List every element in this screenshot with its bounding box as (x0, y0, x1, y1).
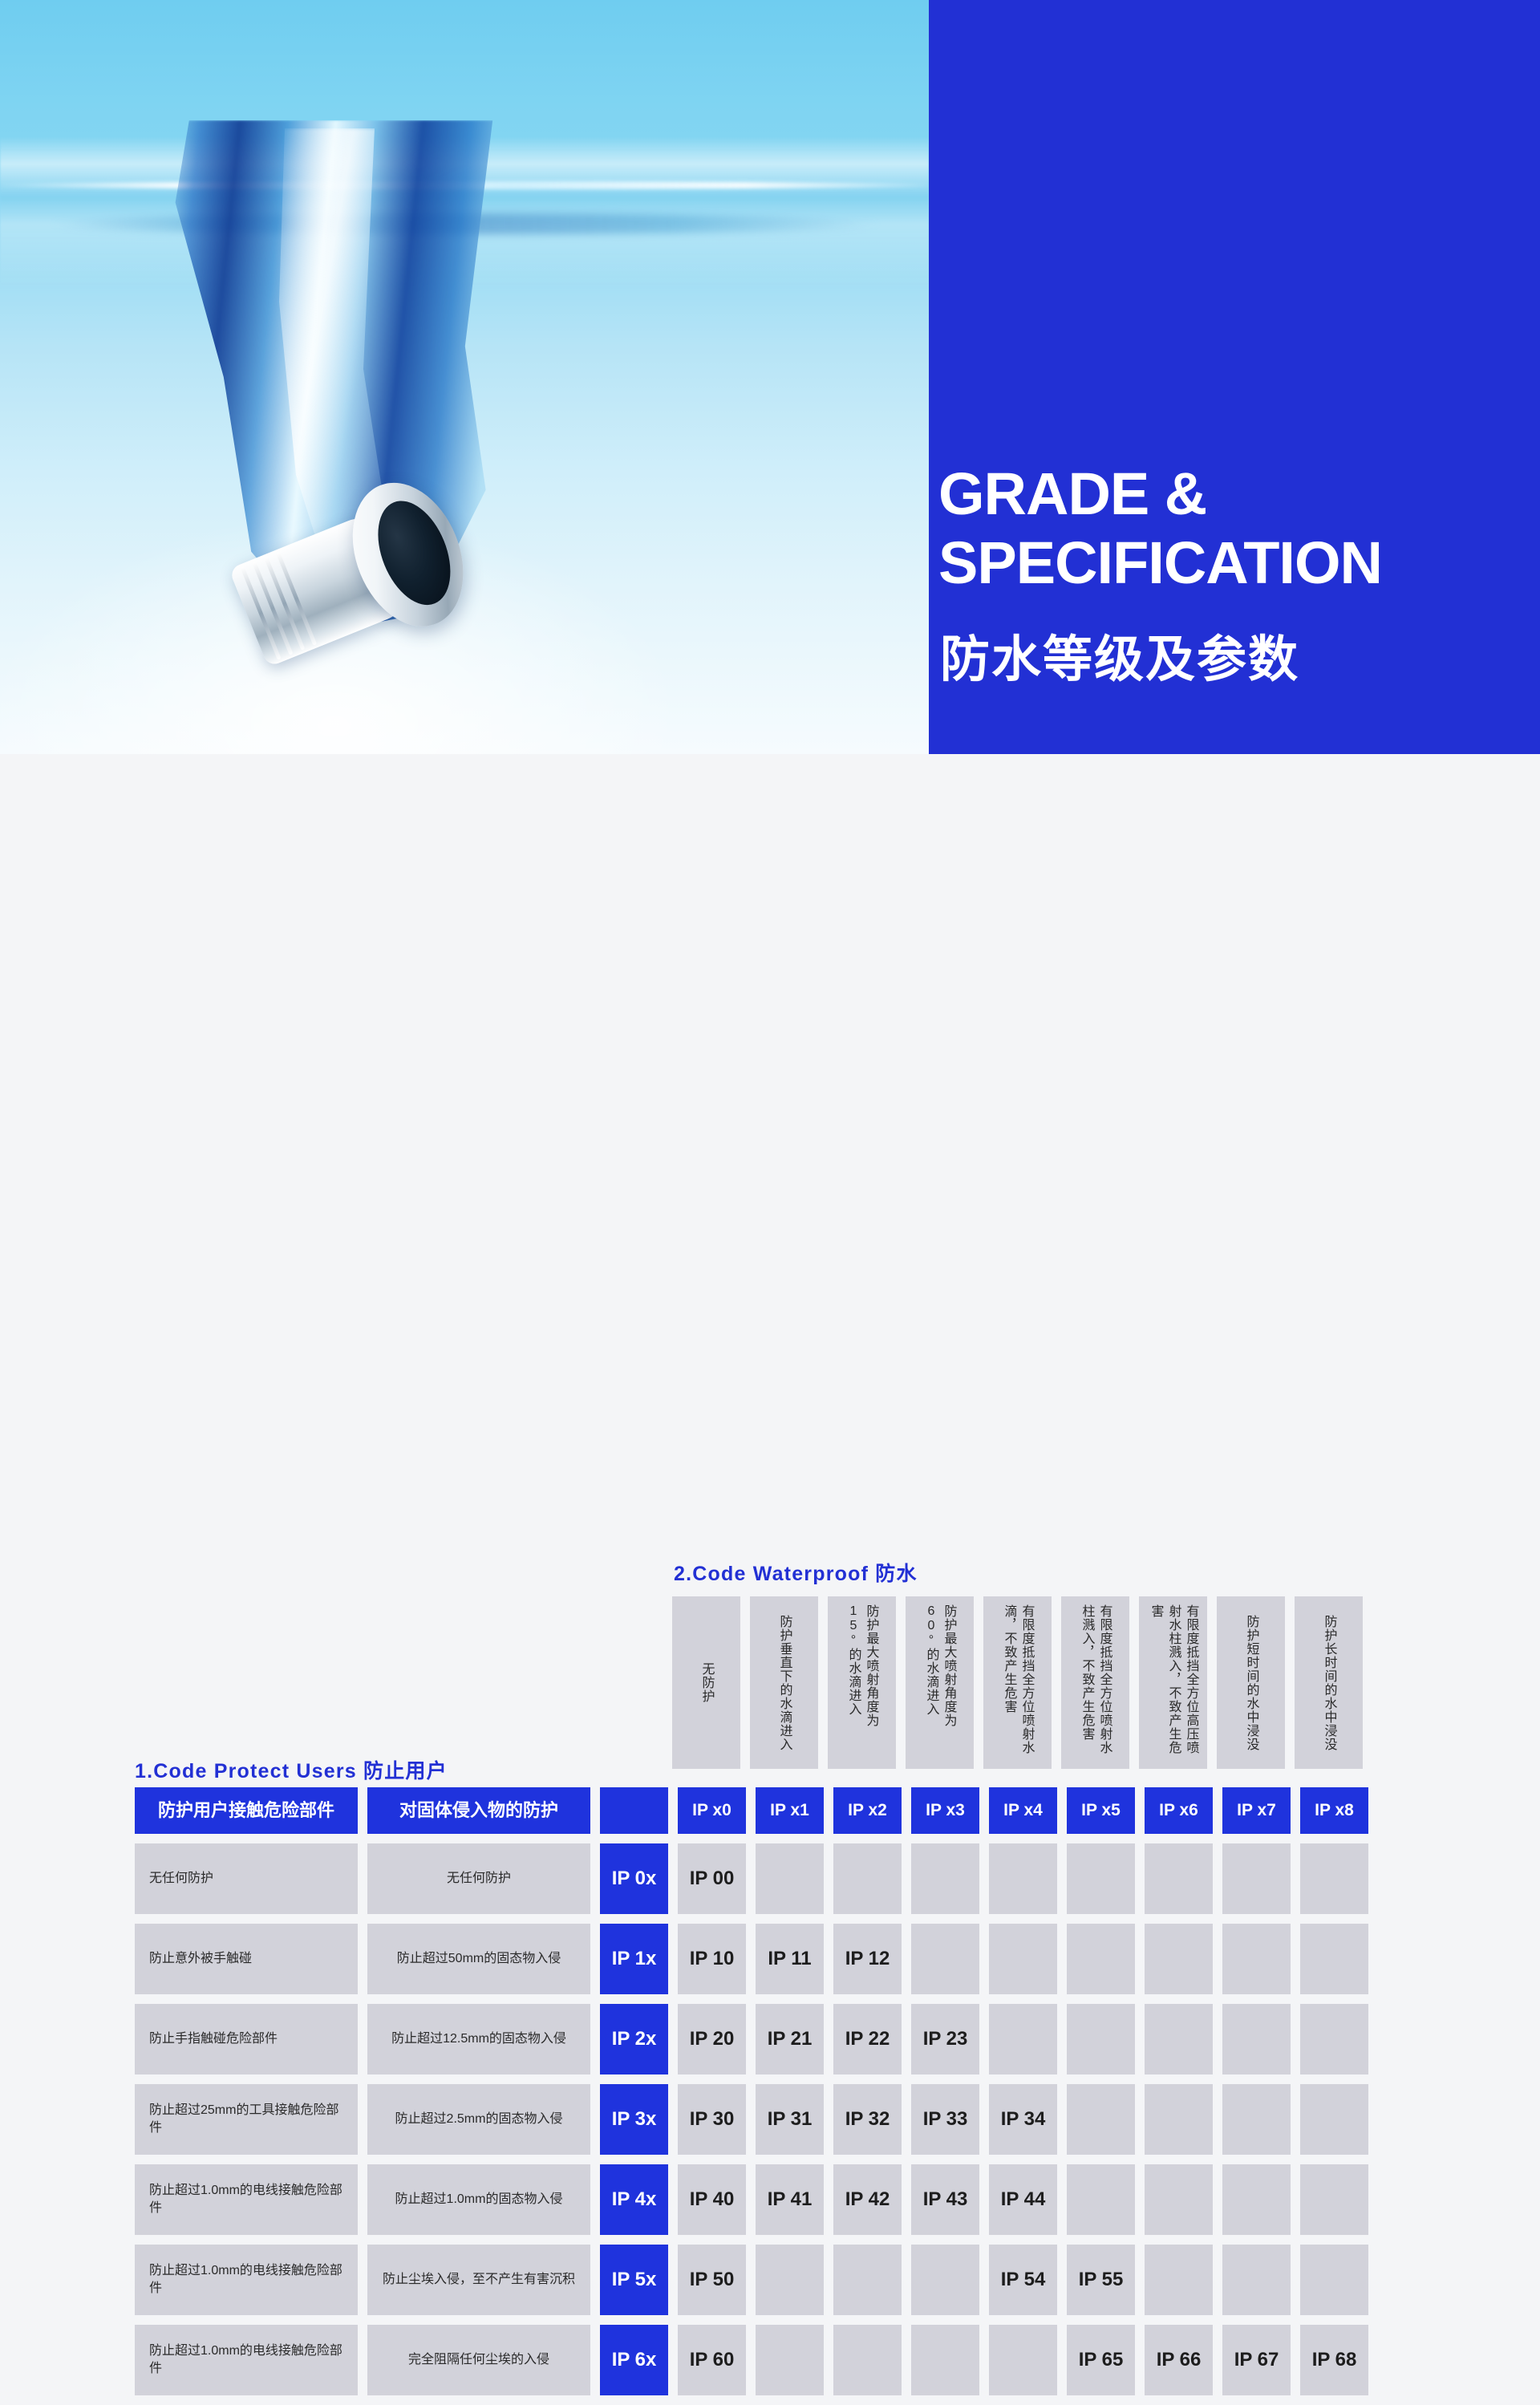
ip-empty-cell (1145, 2004, 1213, 2074)
ip-empty-cell (989, 2004, 1057, 2074)
ip-empty-cell (1067, 1924, 1135, 1994)
ip-empty-cell (1222, 2004, 1291, 2074)
ip-empty-cell (1300, 1924, 1368, 1994)
table-header-ip-ipx6: IP x6 (1145, 1787, 1213, 1834)
waterproof-description-8: 防护长时间的水中浸没 (1295, 1596, 1363, 1769)
ip-value-cell: IP 11 (756, 1924, 824, 1994)
ip-empty-cell (989, 1843, 1057, 1914)
ip-value-cell: IP 43 (911, 2164, 979, 2235)
waterproof-description-2: 防护最大喷射角度为15°的水滴进入 (828, 1596, 896, 1769)
ip-rating-table: 防护用户接触危险部件对固体侵入物的防护IP x0IP x1IP x2IP x3I… (135, 1787, 1368, 2405)
ip-empty-cell (756, 1843, 824, 1914)
row-users-description: 防止超过1.0mm的电线接触危险部件 (135, 2325, 358, 2395)
ip-value-cell: IP 42 (833, 2164, 902, 2235)
ip-value-cell: IP 68 (1300, 2325, 1368, 2395)
ip-empty-cell (756, 2245, 824, 2315)
ip-empty-cell (1067, 1843, 1135, 1914)
hero-banner: GRADE & SPECIFICATION 防水等级及参数 (0, 0, 1540, 754)
row-users-description: 防止手指触碰危险部件 (135, 2004, 358, 2074)
table-header-users: 防护用户接触危险部件 (135, 1787, 358, 1834)
row-ip-code: IP 6x (600, 2325, 668, 2395)
table-header-ip-ipx1: IP x1 (756, 1787, 824, 1834)
row-users-description: 防止超过1.0mm的电线接触危险部件 (135, 2164, 358, 2235)
row-users-description: 防止超过25mm的工具接触危险部件 (135, 2084, 358, 2155)
ip-value-cell: IP 32 (833, 2084, 902, 2155)
waterproof-description-0: 无防护 (672, 1596, 740, 1769)
ip-empty-cell (911, 1924, 979, 1994)
table-header-ip-ipx4: IP x4 (989, 1787, 1057, 1834)
ip-empty-cell (1300, 2245, 1368, 2315)
ip-empty-cell (911, 2245, 979, 2315)
row-users-description: 无任何防护 (135, 1843, 358, 1914)
ip-empty-cell (1145, 1843, 1213, 1914)
ip-value-cell: IP 10 (678, 1924, 746, 1994)
waterproof-description-text: 防护垂直下的水滴进入 (776, 1615, 793, 1751)
section-label-waterproof: 2.Code Waterproof 防水 (674, 1558, 918, 1587)
row-ip-code: IP 5x (600, 2245, 668, 2315)
ip-value-cell: IP 12 (833, 1924, 902, 1994)
ip-empty-cell (1145, 1924, 1213, 1994)
page-title-line2: SPECIFICATION (938, 529, 1532, 598)
waterproof-description-6: 有限度抵挡全方位高压喷射水柱溅入，不致产生危害 (1139, 1596, 1207, 1769)
table-header-ip-ipx7: IP x7 (1222, 1787, 1291, 1834)
ip-empty-cell (911, 2325, 979, 2395)
water-splash-photo (0, 0, 929, 754)
content-sheet: 2.Code Waterproof 防水 1.Code Protect User… (0, 754, 1540, 1749)
ip-empty-cell (1222, 1843, 1291, 1914)
ip-empty-cell (1145, 2245, 1213, 2315)
ip-value-cell: IP 41 (756, 2164, 824, 2235)
table-header-row: 防护用户接触危险部件对固体侵入物的防护IP x0IP x1IP x2IP x3I… (135, 1787, 1368, 1834)
ip-empty-cell (1300, 2164, 1368, 2235)
row-ip-code: IP 0x (600, 1843, 668, 1914)
ip-value-cell: IP 34 (989, 2084, 1057, 2155)
waterproof-description-text: 有限度抵挡全方位喷射水滴，不致产生危害 (1000, 1604, 1035, 1761)
table-header-code-spacer (600, 1787, 668, 1834)
ip-empty-cell (1067, 2084, 1135, 2155)
row-solids-description: 完全阻隔任何尘埃的入侵 (367, 2325, 590, 2395)
row-ip-code: IP 4x (600, 2164, 668, 2235)
waterproof-description-text: 有限度抵挡全方位喷射水柱溅入，不致产生危害 (1078, 1604, 1113, 1761)
waterproof-description-text: 防护短时间的水中浸没 (1242, 1615, 1260, 1751)
ip-value-cell: IP 67 (1222, 2325, 1291, 2395)
ip-empty-cell (989, 1924, 1057, 1994)
table-header-ip-ipx3: IP x3 (911, 1787, 979, 1834)
row-ip-code: IP 3x (600, 2084, 668, 2155)
ip-empty-cell (756, 2325, 824, 2395)
row-ip-code: IP 1x (600, 1924, 668, 1994)
ip-empty-cell (911, 1843, 979, 1914)
waterproof-description-text: 无防护 (698, 1662, 715, 1703)
ip-empty-cell (833, 1843, 902, 1914)
ip-value-cell: IP 65 (1067, 2325, 1135, 2395)
table-row: 防止超过1.0mm的电线接触危险部件完全阻隔任何尘埃的入侵IP 6xIP 60I… (135, 2325, 1368, 2395)
ip-empty-cell (1300, 2084, 1368, 2155)
table-row: 防止超过1.0mm的电线接触危险部件防止超过1.0mm的固态物入侵IP 4xIP… (135, 2164, 1368, 2235)
row-solids-description: 防止超过12.5mm的固态物入侵 (367, 2004, 590, 2074)
table-row: 防止超过25mm的工具接触危险部件防止超过2.5mm的固态物入侵IP 3xIP … (135, 2084, 1368, 2155)
table-header-ip-ipx2: IP x2 (833, 1787, 902, 1834)
table-row: 防止手指触碰危险部件防止超过12.5mm的固态物入侵IP 2xIP 20IP 2… (135, 2004, 1368, 2074)
ip-empty-cell (833, 2325, 902, 2395)
page-title-line1: GRADE & (938, 460, 1532, 529)
waterproof-description-7: 防护短时间的水中浸没 (1217, 1596, 1285, 1769)
ip-value-cell: IP 33 (911, 2084, 979, 2155)
page-title: GRADE & SPECIFICATION (938, 460, 1532, 598)
ip-value-cell: IP 23 (911, 2004, 979, 2074)
waterproof-description-text: 防护长时间的水中浸没 (1320, 1615, 1338, 1751)
table-row: 防止意外被手触碰防止超过50mm的固态物入侵IP 1xIP 10IP 11IP … (135, 1924, 1368, 1994)
waterproof-description-5: 有限度抵挡全方位喷射水柱溅入，不致产生危害 (1061, 1596, 1129, 1769)
ip-empty-cell (1222, 2164, 1291, 2235)
ip-value-cell: IP 54 (989, 2245, 1057, 2315)
table-header-ip-ipx0: IP x0 (678, 1787, 746, 1834)
waterproof-description-1: 防护垂直下的水滴进入 (750, 1596, 818, 1769)
page-subtitle: 防水等级及参数 (940, 634, 1534, 687)
ip-value-cell: IP 40 (678, 2164, 746, 2235)
ip-value-cell: IP 55 (1067, 2245, 1135, 2315)
ip-value-cell: IP 00 (678, 1843, 746, 1914)
row-solids-description: 防止尘埃入侵，至不产生有害沉积 (367, 2245, 590, 2315)
ip-empty-cell (833, 2245, 902, 2315)
waterproof-description-text: 有限度抵挡全方位高压喷射水柱溅入，不致产生危害 (1147, 1604, 1200, 1761)
row-solids-description: 防止超过50mm的固态物入侵 (367, 1924, 590, 1994)
row-solids-description: 防止超过1.0mm的固态物入侵 (367, 2164, 590, 2235)
table-header-ip-ipx5: IP x5 (1067, 1787, 1135, 1834)
table-header-ip-ipx8: IP x8 (1300, 1787, 1368, 1834)
ip-value-cell: IP 44 (989, 2164, 1057, 2235)
ip-empty-cell (989, 2325, 1057, 2395)
ip-value-cell: IP 21 (756, 2004, 824, 2074)
ip-empty-cell (1300, 1843, 1368, 1914)
waterproof-description-text: 防护最大喷射角度为15°的水滴进入 (845, 1604, 880, 1761)
waterproof-description-strip: 无防护防护垂直下的水滴进入防护最大喷射角度为15°的水滴进入防护最大喷射角度为6… (672, 1596, 1363, 1769)
ip-empty-cell (1222, 1924, 1291, 1994)
waterproof-description-3: 防护最大喷射角度为60°的水滴进入 (906, 1596, 974, 1769)
ip-empty-cell (1145, 2084, 1213, 2155)
ip-value-cell: IP 66 (1145, 2325, 1213, 2395)
ip-value-cell: IP 20 (678, 2004, 746, 2074)
ip-value-cell: IP 60 (678, 2325, 746, 2395)
ip-empty-cell (1300, 2004, 1368, 2074)
ip-empty-cell (1145, 2164, 1213, 2235)
ip-empty-cell (1222, 2084, 1291, 2155)
waterproof-description-text: 防护最大喷射角度为60°的水滴进入 (922, 1604, 958, 1761)
ip-empty-cell (1067, 2004, 1135, 2074)
row-users-description: 防止超过1.0mm的电线接触危险部件 (135, 2245, 358, 2315)
row-users-description: 防止意外被手触碰 (135, 1924, 358, 1994)
ip-empty-cell (1067, 2164, 1135, 2235)
ip-value-cell: IP 31 (756, 2084, 824, 2155)
ip-value-cell: IP 50 (678, 2245, 746, 2315)
row-solids-description: 防止超过2.5mm的固态物入侵 (367, 2084, 590, 2155)
ip-empty-cell (1222, 2245, 1291, 2315)
table-row: 无任何防护无任何防护IP 0xIP 00 (135, 1843, 1368, 1914)
row-solids-description: 无任何防护 (367, 1843, 590, 1914)
table-row: 防止超过1.0mm的电线接触危险部件防止尘埃入侵，至不产生有害沉积IP 5xIP… (135, 2245, 1368, 2315)
row-ip-code: IP 2x (600, 2004, 668, 2074)
waterproof-description-4: 有限度抵挡全方位喷射水滴，不致产生危害 (983, 1596, 1052, 1769)
ip-value-cell: IP 22 (833, 2004, 902, 2074)
ip-value-cell: IP 30 (678, 2084, 746, 2155)
section-label-protect-users: 1.Code Protect Users 防止用户 (135, 1755, 448, 1784)
table-header-solids: 对固体侵入物的防护 (367, 1787, 590, 1834)
